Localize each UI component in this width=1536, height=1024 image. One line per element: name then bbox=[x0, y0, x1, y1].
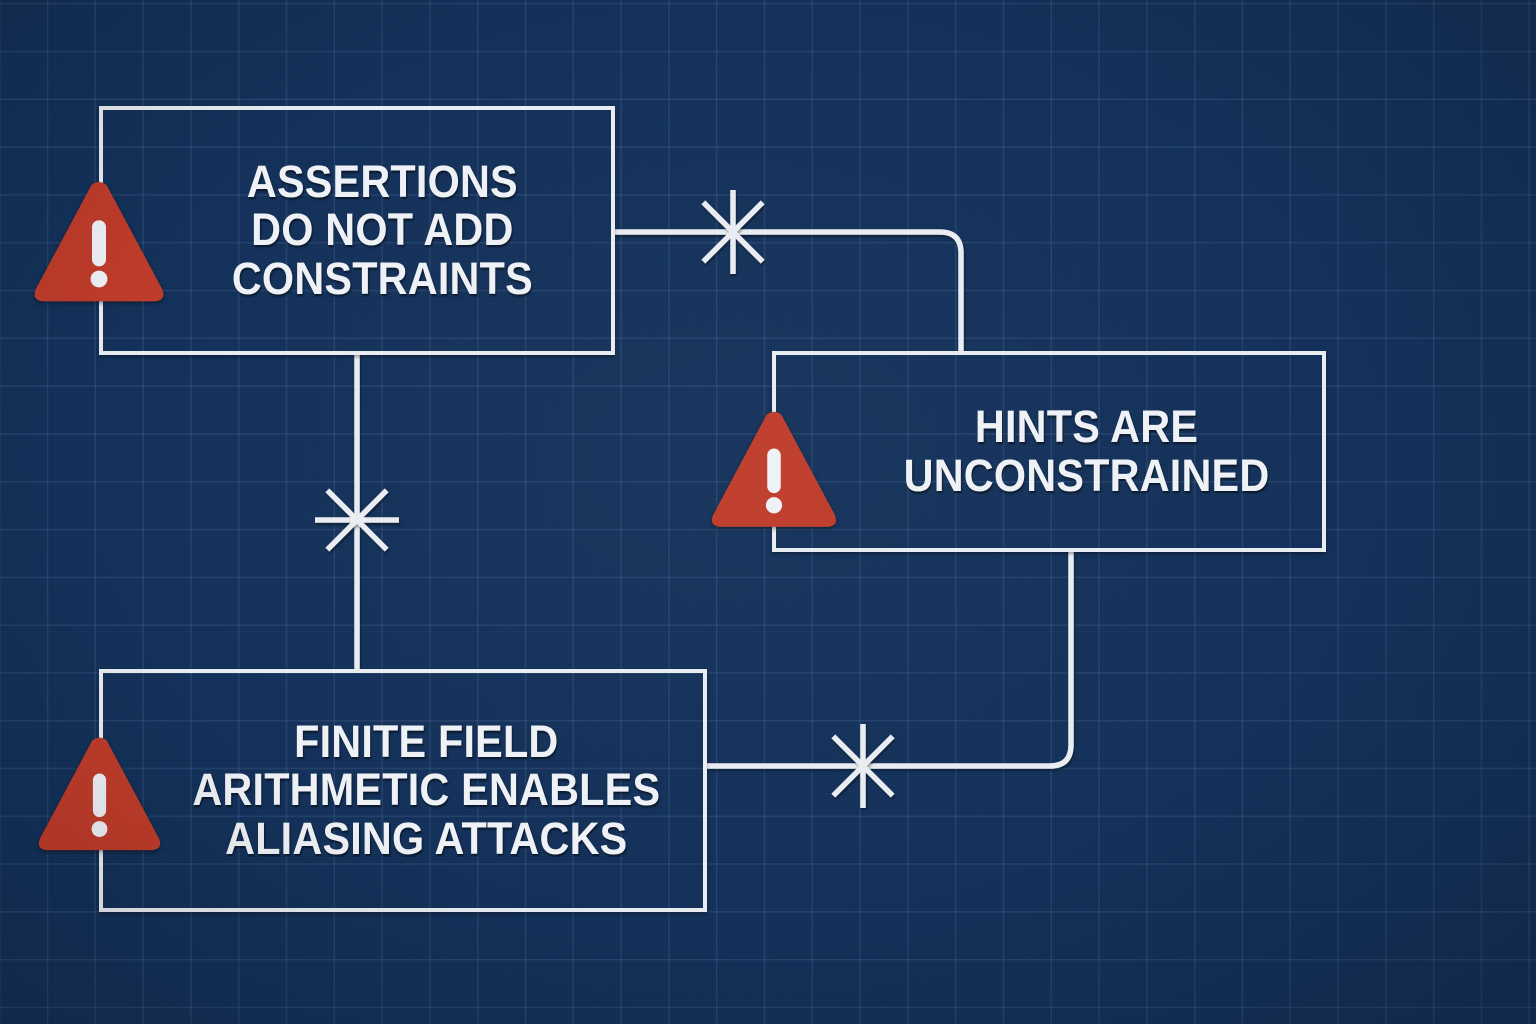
node-label-assertions: ASSERTIONS DO NOT ADD CONSTRAINTS bbox=[168, 158, 546, 304]
node-box-hints[interactable]: HINTS ARE UNCONSTRAINED bbox=[772, 351, 1326, 552]
warning-triangle-icon bbox=[33, 730, 166, 862]
node-label-hints: HINTS ARE UNCONSTRAINED bbox=[815, 403, 1282, 500]
node-box-finite-field[interactable]: FINITE FIELD ARITHMETIC ENABLES ALIASING… bbox=[99, 669, 707, 912]
diagram-canvas: ASSERTIONS DO NOT ADD CONSTRAINTS HINTS … bbox=[0, 0, 1536, 1024]
node-box-assertions[interactable]: ASSERTIONS DO NOT ADD CONSTRAINTS bbox=[99, 106, 615, 355]
node-label-finite-field: FINITE FIELD ARITHMETIC ENABLES ALIASING… bbox=[133, 718, 673, 864]
warning-triangle-icon bbox=[706, 404, 842, 539]
warning-triangle-icon bbox=[28, 174, 170, 314]
